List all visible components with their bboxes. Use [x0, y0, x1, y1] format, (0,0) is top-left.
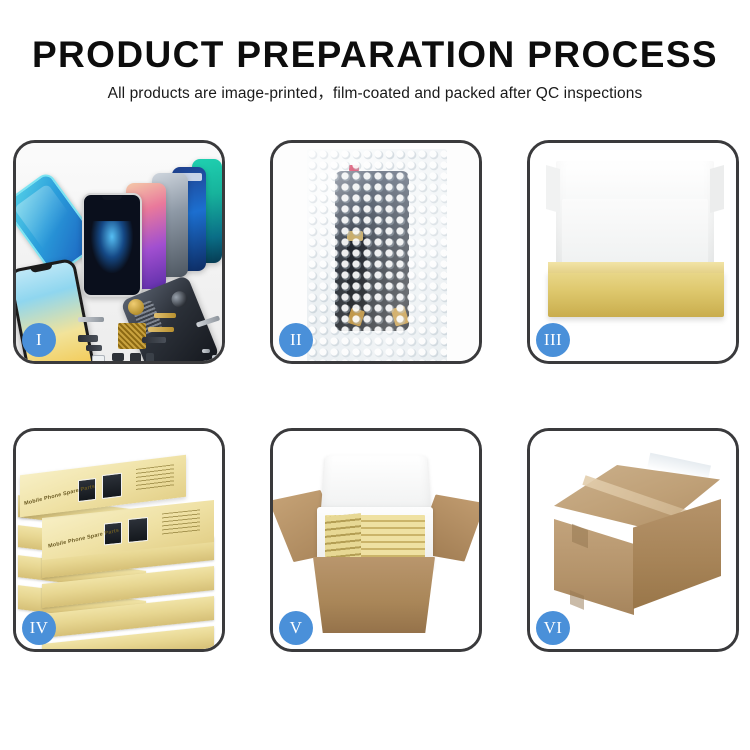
process-step-6[interactable]: VI — [527, 428, 739, 652]
process-step-4[interactable]: Mobile Phone Spare Parts Mobile Phone Sp… — [13, 428, 225, 652]
step-badge-3: III — [536, 323, 570, 357]
part-tool-tweezers — [196, 315, 220, 327]
step-badge-6: VI — [536, 611, 570, 645]
spare-parts-group — [76, 293, 222, 361]
plastic-sheen — [307, 149, 447, 361]
phone-notch — [30, 264, 53, 273]
part-vibrator — [146, 353, 154, 361]
gold-box-tray — [548, 271, 724, 317]
step-badge-1: I — [22, 323, 56, 357]
part-screw — [212, 355, 220, 359]
part-connector-grid — [118, 323, 146, 349]
part-chip — [112, 353, 124, 361]
phone-notch — [102, 196, 122, 200]
page-title: PRODUCT PREPARATION PROCESS — [0, 34, 750, 75]
part-sim-tray — [92, 355, 105, 361]
part-strip — [78, 317, 104, 322]
part-flex-cable — [142, 337, 166, 343]
process-step-2[interactable]: II — [270, 140, 482, 364]
part-gold-flex — [148, 327, 174, 332]
process-step-5[interactable]: V — [270, 428, 482, 652]
part-speaker — [128, 299, 144, 315]
part-screw — [202, 349, 210, 353]
process-step-1[interactable]: I — [13, 140, 225, 364]
box-art-thumbnail — [128, 517, 148, 543]
box-spec-lines — [162, 509, 200, 535]
step-badge-2: II — [279, 323, 313, 357]
part-flex-cable — [78, 335, 98, 342]
part-gold-flex — [154, 313, 176, 318]
phone-glass-screen — [82, 193, 142, 297]
gold-boxes-inside-angled — [325, 513, 361, 561]
part-battery-cell — [130, 353, 141, 361]
step-badge-5: V — [279, 611, 313, 645]
phone-wallpaper — [91, 221, 133, 273]
part-flex-cable — [86, 345, 102, 351]
step-badge-4: IV — [22, 611, 56, 645]
process-step-grid: I II III — [13, 140, 735, 652]
carton-body — [313, 557, 435, 633]
page-header: PRODUCT PREPARATION PROCESS All products… — [0, 0, 750, 104]
box-art-thumbnail — [102, 473, 122, 499]
bubble-wrap-bag — [307, 149, 447, 361]
process-step-3[interactable]: III — [527, 140, 739, 364]
box-spec-lines — [136, 464, 174, 491]
page-subtitle: All products are image-printed，film-coat… — [0, 85, 750, 104]
